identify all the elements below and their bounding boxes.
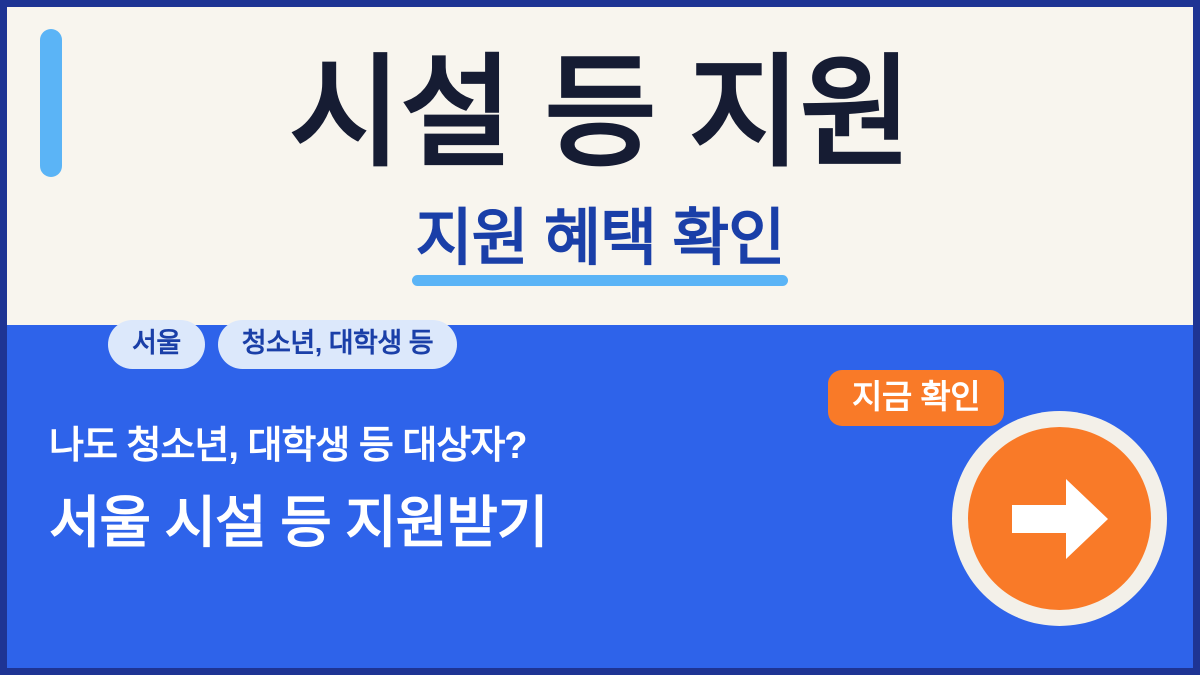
- page-subtitle: 지원 혜택 확인: [416, 204, 785, 273]
- page-title: 시설 등 지원: [7, 45, 1193, 182]
- kicker-text: 나도 청소년, 대학생 등 대상자?: [49, 414, 527, 469]
- banner-inner: 시설 등 지원 지원 혜택 확인 서울 청소년, 대학생 등 나도 청소년, 대…: [7, 7, 1193, 668]
- tag-chip-group: 서울 청소년, 대학생 등: [108, 320, 457, 369]
- chip-audience[interactable]: 청소년, 대학생 등: [218, 320, 457, 369]
- subtitle-container: 지원 혜택 확인: [7, 203, 1193, 274]
- cta-arrow-button-face: [968, 427, 1151, 610]
- headline-text: 서울 시설 등 지원받기: [49, 478, 547, 559]
- promo-banner: 시설 등 지원 지원 혜택 확인 서울 청소년, 대학생 등 나도 청소년, 대…: [0, 0, 1200, 675]
- banner-header-panel: 시설 등 지원 지원 혜택 확인: [7, 7, 1193, 325]
- subtitle-text-wrapper: 지원 혜택 확인: [410, 203, 791, 274]
- cta-badge[interactable]: 지금 확인: [828, 370, 1004, 426]
- cta-arrow-button[interactable]: [952, 411, 1167, 626]
- subtitle-underline-decoration: [412, 275, 789, 286]
- arrow-right-icon: [1008, 473, 1112, 565]
- chip-region[interactable]: 서울: [108, 320, 205, 369]
